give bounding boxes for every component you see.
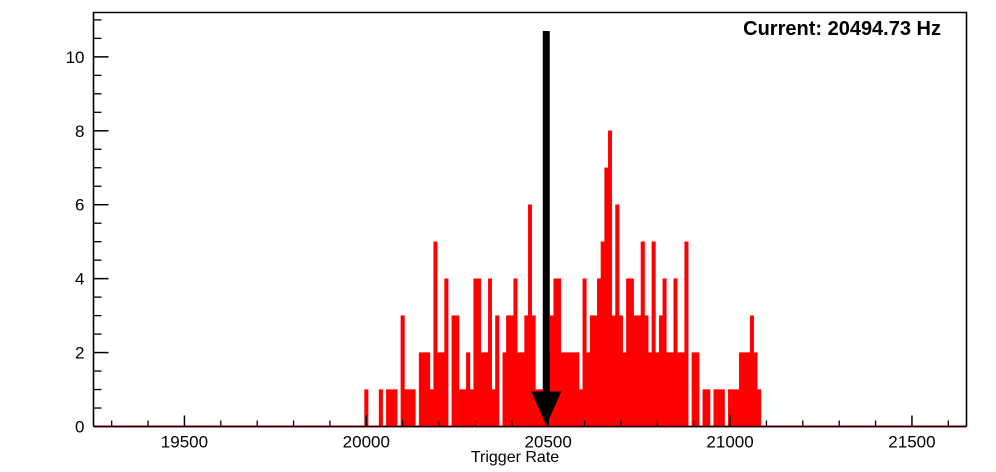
histogram-bin — [706, 390, 710, 427]
current-rate-readout: Current: 20494.73 Hz — [743, 18, 941, 40]
histogram-bin — [455, 316, 459, 427]
y-tick-label: 8 — [75, 122, 84, 141]
histogram-bin — [386, 390, 390, 427]
x-tick-label: 20000 — [343, 433, 390, 452]
histogram-bin — [594, 316, 598, 427]
histogram-bin — [517, 353, 521, 427]
y-tick-label: 2 — [75, 344, 84, 363]
histogram-bin — [521, 353, 525, 427]
histogram-bin — [645, 316, 649, 427]
histogram-bin — [674, 279, 678, 427]
histogram-bin — [681, 353, 685, 427]
histogram-bin — [430, 390, 434, 427]
histogram-bin — [750, 316, 754, 427]
histogram-bin — [648, 353, 652, 427]
histogram-bin — [463, 390, 467, 427]
histogram-bin — [597, 279, 601, 427]
histogram-bin — [441, 353, 445, 427]
histogram-bin — [685, 242, 689, 427]
histogram-bin — [437, 353, 441, 427]
histogram-bin — [732, 390, 736, 427]
histogram-bin — [634, 316, 638, 427]
histogram-bin — [754, 353, 758, 427]
histogram-bin — [445, 279, 449, 427]
x-tick-label: 19500 — [161, 433, 208, 452]
histogram-bin — [434, 242, 438, 427]
histogram-bin — [663, 279, 667, 427]
histogram-bin — [477, 279, 481, 427]
histogram-bin — [714, 390, 718, 427]
histogram-bin — [495, 316, 499, 427]
histogram-bin — [525, 316, 529, 427]
histogram-bin — [575, 353, 579, 427]
histogram-bin — [641, 242, 645, 427]
histogram-bin — [721, 390, 725, 427]
histogram-bin — [423, 353, 427, 427]
histogram-bin — [481, 353, 485, 427]
histogram-bin — [405, 390, 409, 427]
histogram-bin — [510, 316, 514, 427]
histogram-bin — [717, 390, 721, 427]
histogram-bin — [394, 390, 398, 427]
histogram-bin — [659, 316, 663, 427]
histogram-bin — [474, 279, 478, 427]
histogram-bin — [426, 353, 430, 427]
histogram-bin — [488, 279, 492, 427]
histogram-bin — [739, 353, 743, 427]
histogram-bin — [419, 353, 423, 427]
histogram-bin — [590, 316, 594, 427]
x-tick-label: 21000 — [706, 433, 753, 452]
histogram-bin — [623, 353, 627, 427]
histogram-bin — [485, 353, 489, 427]
histogram-bin — [677, 353, 681, 427]
histogram-bin — [703, 390, 707, 427]
histogram-bin — [626, 279, 630, 427]
histogram-canvas: 0246810 1950020000205002100021500 Trigge… — [0, 0, 996, 472]
histogram-bin — [666, 353, 670, 427]
histogram-bin — [492, 390, 496, 427]
histogram-bin — [746, 353, 750, 427]
histogram-bin — [736, 390, 740, 427]
histogram-bin — [637, 316, 641, 427]
histogram-bin — [586, 353, 590, 427]
histogram-bin — [670, 353, 674, 427]
histogram-bin — [743, 353, 747, 427]
histogram-bin — [452, 316, 456, 427]
histogram-bin — [655, 353, 659, 427]
histogram-bin — [503, 353, 507, 427]
histogram-bin — [528, 205, 532, 427]
histogram-bin — [652, 242, 656, 427]
histogram-bin — [601, 242, 605, 427]
histogram-bin — [615, 205, 619, 427]
histogram-bin — [579, 390, 583, 427]
histogram-bin — [506, 316, 510, 427]
histogram-bin — [630, 279, 634, 427]
x-axis-title: Trigger Rate — [471, 449, 559, 466]
histogram-bin — [408, 390, 412, 427]
histogram-bin — [459, 390, 463, 427]
histogram-bin — [619, 316, 623, 427]
y-tick-label: 10 — [66, 48, 85, 67]
histogram-bin — [568, 353, 572, 427]
histogram-bin — [612, 316, 616, 427]
histogram-bin — [532, 316, 536, 427]
histogram-bin — [561, 353, 565, 427]
histogram-bin — [692, 353, 696, 427]
histogram-bin — [412, 390, 416, 427]
histogram-bin — [757, 390, 761, 427]
histogram-bin — [583, 279, 587, 427]
histogram-bin — [608, 131, 612, 427]
trigger-rate-histogram: 0246810 1950020000205002100021500 Trigge… — [0, 0, 996, 472]
histogram-bin — [557, 279, 561, 427]
histogram-bin — [466, 353, 470, 427]
histogram-bin — [514, 279, 518, 427]
y-tick-label: 0 — [75, 418, 84, 437]
histogram-bin — [390, 390, 394, 427]
histogram-bin — [379, 390, 383, 427]
histogram-bin — [401, 316, 405, 427]
histogram-bin — [605, 168, 609, 427]
histogram-bin — [572, 353, 576, 427]
histogram-bin — [565, 353, 569, 427]
y-tick-label: 4 — [75, 270, 84, 289]
x-tick-label: 21500 — [888, 433, 935, 452]
y-tick-label: 6 — [75, 196, 84, 215]
histogram-bin — [696, 353, 700, 427]
histogram-bin — [470, 390, 474, 427]
